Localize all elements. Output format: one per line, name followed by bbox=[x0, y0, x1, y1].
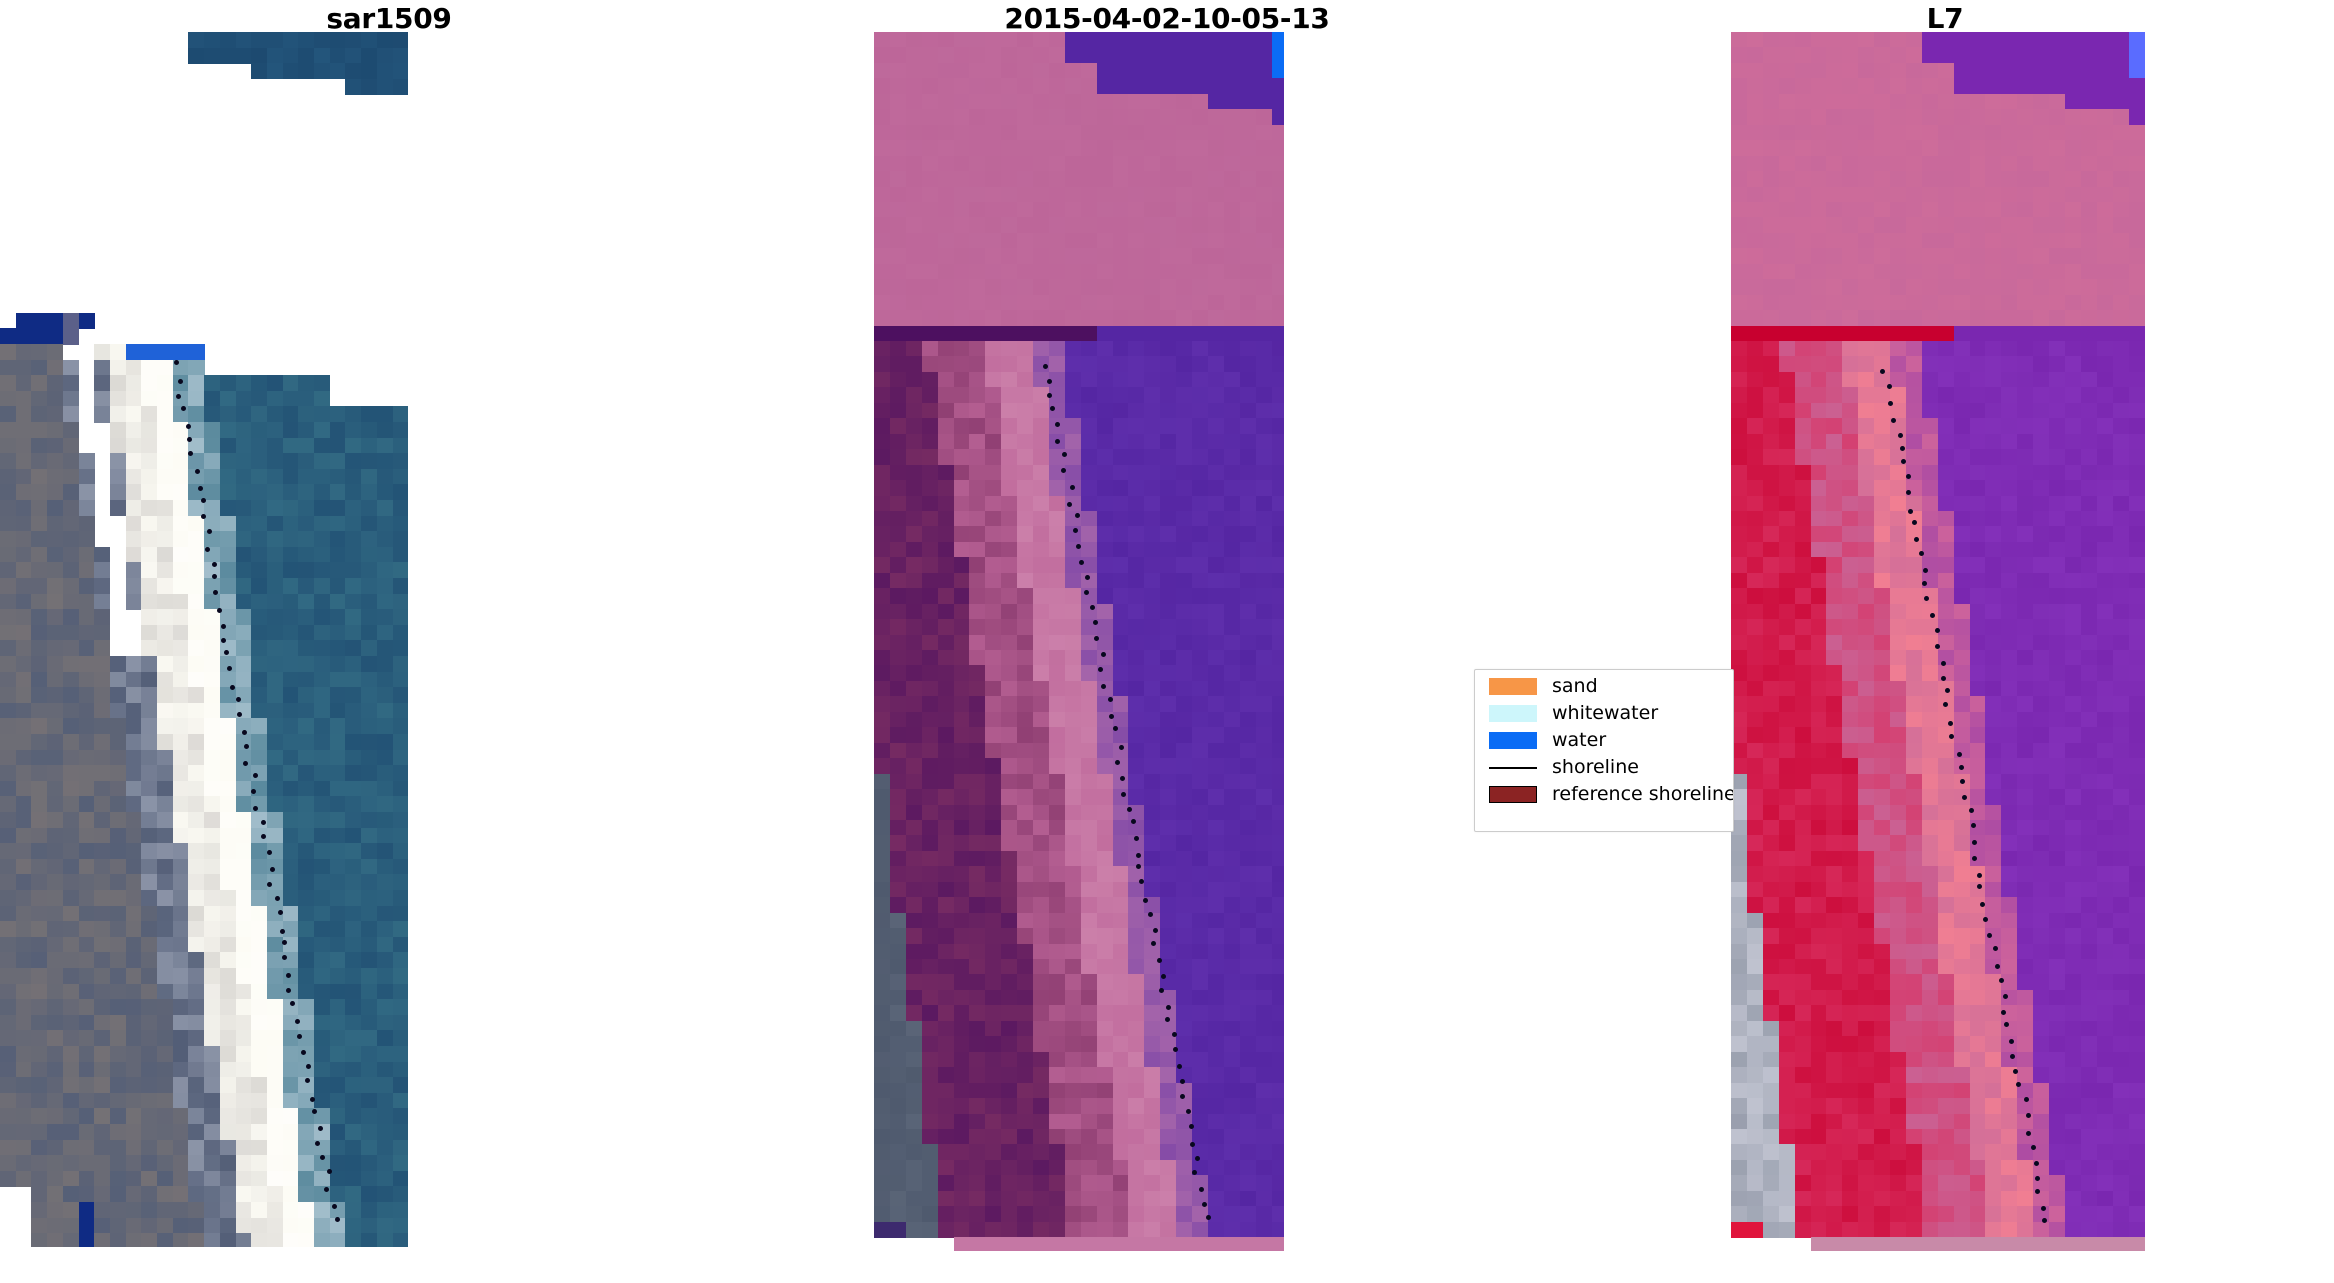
shoreline-dot bbox=[1136, 864, 1141, 869]
shoreline-dot bbox=[253, 773, 258, 778]
legend-label-reference-shoreline: reference shoreline bbox=[1552, 785, 1734, 804]
shoreline-dot bbox=[221, 624, 226, 629]
raster-image-sar1509 bbox=[0, 32, 408, 1247]
shoreline-dot bbox=[1957, 752, 1962, 757]
shoreline-dot bbox=[1073, 528, 1078, 533]
shoreline-dot bbox=[2042, 1218, 2047, 1223]
shoreline-dot bbox=[1972, 856, 1977, 861]
shoreline-dot bbox=[253, 806, 258, 811]
shoreline-dot bbox=[1067, 502, 1072, 507]
shoreline-dot bbox=[1977, 873, 1982, 878]
shoreline-dot bbox=[1165, 1017, 1170, 1022]
shoreline-dot bbox=[230, 685, 235, 690]
shoreline-dot bbox=[1136, 853, 1141, 858]
shoreline-dot bbox=[1062, 452, 1067, 457]
shoreline-dot bbox=[1195, 1156, 1200, 1161]
panel-title-2: L7 bbox=[1556, 2, 2334, 35]
shoreline-dot bbox=[2024, 1097, 2029, 1102]
legend-label-sand: sand bbox=[1552, 677, 1598, 696]
shoreline-dot bbox=[286, 988, 291, 993]
shoreline-dot bbox=[332, 1204, 337, 1209]
shoreline-dot bbox=[2004, 1022, 2009, 1027]
shoreline-dot bbox=[280, 929, 285, 934]
panel-title-1: 2015-04-02-10-05-13 bbox=[778, 2, 1556, 35]
shoreline-dot bbox=[2001, 1010, 2006, 1015]
shoreline-dot bbox=[212, 562, 217, 567]
shoreline-dot bbox=[1935, 628, 1940, 633]
shoreline-dot bbox=[1093, 620, 1098, 625]
shoreline-dot bbox=[1177, 1064, 1182, 1069]
legend-label-shoreline: shoreline bbox=[1552, 758, 1639, 777]
shoreline-dot bbox=[305, 1078, 310, 1083]
shoreline-dot bbox=[217, 608, 222, 613]
raster-image-l7 bbox=[1731, 32, 2146, 1251]
shoreline-dot bbox=[1127, 807, 1132, 812]
shoreline-dot bbox=[1948, 721, 1953, 726]
shoreline-dot bbox=[327, 1169, 332, 1174]
legend-item-water: water bbox=[1489, 730, 1606, 751]
legend-swatch-sand bbox=[1489, 678, 1537, 695]
legend-item-reference-shoreline: reference shoreline bbox=[1489, 784, 1734, 805]
shoreline-dot bbox=[198, 486, 203, 491]
shoreline-dot bbox=[1190, 1142, 1195, 1147]
shoreline-dot bbox=[1888, 401, 1893, 406]
shoreline-dot bbox=[1880, 369, 1885, 374]
shoreline-dot bbox=[1999, 978, 2004, 983]
figure-canvas: sar1509 2015-04-02-10-05-13 L7 sand whit… bbox=[0, 0, 2334, 1283]
shoreline-dot bbox=[1061, 468, 1066, 473]
shoreline-dot bbox=[2010, 1054, 2015, 1059]
legend-label-whitewater: whitewater bbox=[1552, 704, 1658, 723]
shoreline-dot bbox=[335, 1217, 340, 1222]
shoreline-dot bbox=[1115, 760, 1120, 765]
shoreline-dot bbox=[1995, 964, 2000, 969]
shoreline-dot bbox=[1941, 676, 1946, 681]
shoreline-dot bbox=[1047, 379, 1052, 384]
legend-line-shoreline bbox=[1489, 767, 1537, 769]
shoreline-dot bbox=[201, 514, 206, 519]
shoreline-dot bbox=[1908, 509, 1913, 514]
legend-item-shoreline: shoreline bbox=[1489, 757, 1639, 778]
shoreline-dot bbox=[1159, 988, 1164, 993]
shoreline-dot bbox=[301, 1050, 306, 1055]
shoreline-dot bbox=[1971, 823, 1976, 828]
shoreline-dot bbox=[1972, 840, 1977, 845]
shoreline-dot bbox=[178, 379, 183, 384]
raster-image-datetime bbox=[874, 32, 1284, 1251]
shoreline-dot bbox=[1912, 520, 1917, 525]
shoreline-dot bbox=[1969, 808, 1974, 813]
panel-datetime: 2015-04-02-10-05-13 bbox=[778, 0, 1556, 1283]
shoreline-dot bbox=[261, 820, 266, 825]
shoreline-dot bbox=[1076, 544, 1081, 549]
shoreline-dot bbox=[224, 650, 229, 655]
shoreline-dot bbox=[1120, 776, 1125, 781]
shoreline-dot bbox=[2034, 1161, 2039, 1166]
shoreline-dot bbox=[1189, 1124, 1194, 1129]
shoreline-dot bbox=[1085, 575, 1090, 580]
shoreline-dot bbox=[1131, 819, 1136, 824]
shoreline-dot bbox=[1199, 1187, 1204, 1192]
shoreline-dot bbox=[1943, 702, 1948, 707]
legend-item-whitewater: whitewater bbox=[1489, 703, 1658, 724]
shoreline-dot bbox=[213, 590, 218, 595]
panel-l7: L7 bbox=[1556, 0, 2334, 1283]
shoreline-dot bbox=[212, 574, 217, 579]
shoreline-dot bbox=[1898, 433, 1903, 438]
shoreline-dot bbox=[181, 406, 186, 411]
shoreline-dot bbox=[1108, 697, 1113, 702]
shoreline-dot bbox=[1906, 490, 1911, 495]
shoreline-dot bbox=[1094, 636, 1099, 641]
shoreline-dot bbox=[1153, 928, 1158, 933]
shoreline-dot bbox=[1960, 779, 1965, 784]
panel-sar1509: sar1509 bbox=[0, 0, 778, 1283]
shoreline-dot bbox=[290, 1001, 295, 1006]
shoreline-dot bbox=[242, 730, 247, 735]
shoreline-dot bbox=[1949, 734, 1954, 739]
shoreline-dot bbox=[1900, 446, 1905, 451]
shoreline-dot bbox=[1891, 418, 1896, 423]
shoreline-dot bbox=[1119, 745, 1124, 750]
shoreline-dot bbox=[267, 850, 272, 855]
shoreline-dot bbox=[1959, 765, 1964, 770]
shoreline-dot bbox=[2026, 1113, 2031, 1118]
shoreline-dot bbox=[1075, 513, 1080, 518]
shoreline-dot bbox=[2035, 1176, 2040, 1181]
shoreline-dot bbox=[237, 712, 242, 717]
legend-box: sand whitewater water shoreline referenc… bbox=[1474, 669, 1734, 832]
shoreline-dot bbox=[1143, 898, 1148, 903]
shoreline-dot bbox=[1047, 393, 1052, 398]
legend-swatch-reference-shoreline bbox=[1489, 786, 1537, 803]
shoreline-dot bbox=[310, 1097, 315, 1102]
shoreline-dot bbox=[1945, 688, 1950, 693]
shoreline-dot bbox=[1192, 1170, 1197, 1175]
shoreline-dot bbox=[1993, 946, 1998, 951]
shoreline-dot bbox=[2041, 1206, 2046, 1211]
shoreline-dot bbox=[1930, 613, 1935, 618]
shoreline-dot bbox=[297, 1034, 302, 1039]
shoreline-dot bbox=[1923, 568, 1928, 573]
shoreline-dot bbox=[221, 638, 226, 643]
shoreline-dot bbox=[1941, 661, 1946, 666]
shoreline-dot bbox=[278, 910, 283, 915]
shoreline-dot bbox=[195, 469, 200, 474]
shoreline-dot bbox=[315, 1141, 320, 1146]
shoreline-dot bbox=[320, 1155, 325, 1160]
shoreline-dot bbox=[201, 498, 206, 503]
legend-swatch-water bbox=[1489, 732, 1537, 749]
shoreline-dot bbox=[1901, 459, 1906, 464]
shoreline-dot bbox=[286, 973, 291, 978]
legend-swatch-whitewater bbox=[1489, 705, 1537, 722]
shoreline-dot bbox=[1962, 795, 1967, 800]
shoreline-dot bbox=[1206, 1215, 1211, 1220]
shoreline-dot bbox=[1983, 917, 1988, 922]
shoreline-dot bbox=[1055, 439, 1060, 444]
panel-title-0: sar1509 bbox=[0, 2, 778, 35]
legend-label-water: water bbox=[1552, 731, 1606, 750]
legend-item-sand: sand bbox=[1489, 676, 1598, 697]
shoreline-dot bbox=[1161, 974, 1166, 979]
shoreline-dot bbox=[1914, 537, 1919, 542]
